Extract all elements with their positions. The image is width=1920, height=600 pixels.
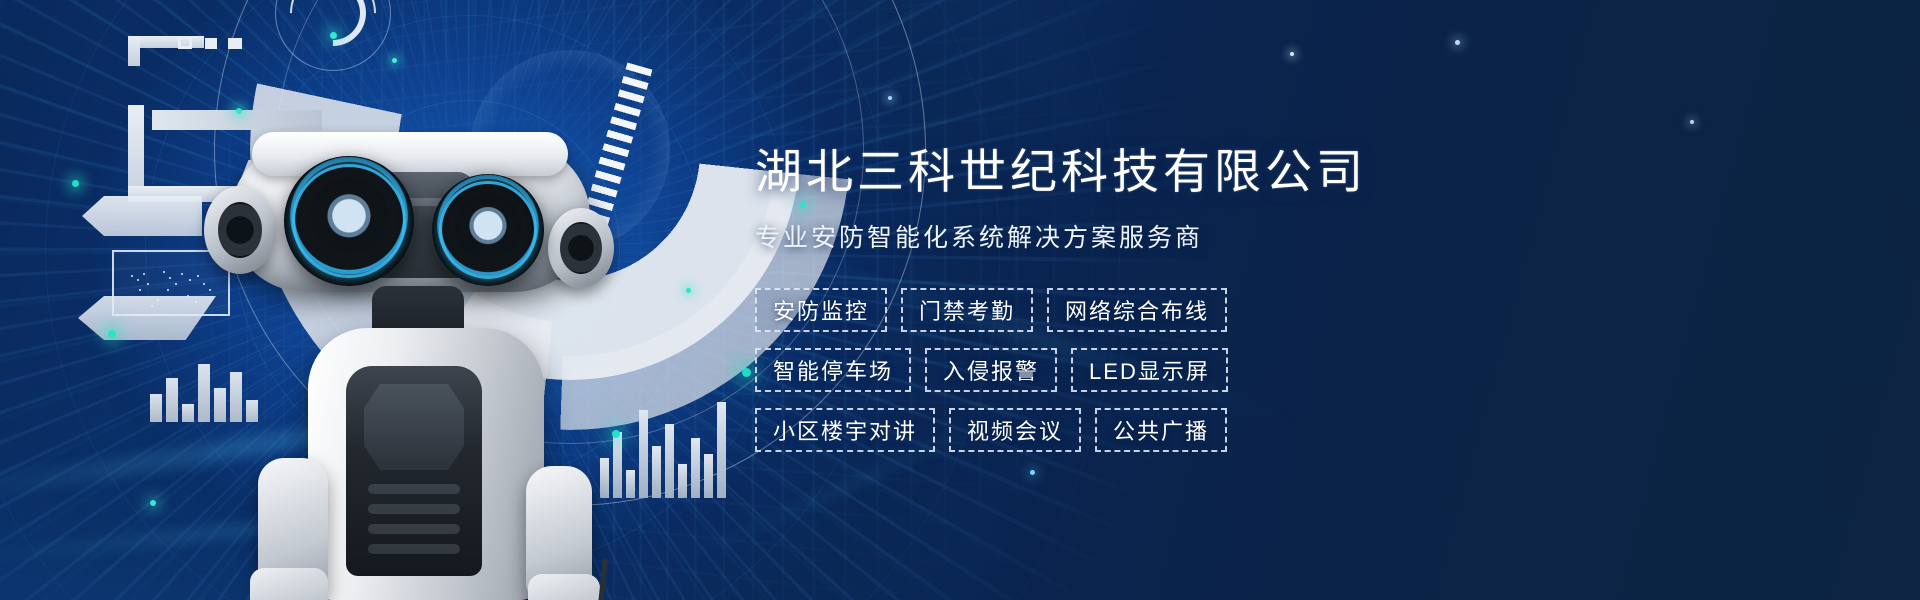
glow-particle [108, 330, 116, 338]
robot-chest-slit [368, 504, 460, 514]
robot-brow-bar [252, 132, 568, 176]
service-tag-public-broadcast[interactable]: 公共广播 [1095, 408, 1227, 452]
service-tag-row: 智能停车场 入侵报警 LED显示屏 [755, 348, 1455, 392]
robot-chest-slit [368, 484, 460, 494]
robot-hand-left [250, 568, 328, 600]
service-tag-intrusion-alarm[interactable]: 入侵报警 [925, 348, 1057, 392]
glow-particle [1030, 470, 1035, 475]
robot-illustration [196, 128, 626, 600]
glow-particle [150, 500, 156, 506]
robot-chest-emblem [364, 384, 464, 470]
glow-particle [1455, 40, 1460, 45]
service-tag-building-intercom[interactable]: 小区楼宇对讲 [755, 408, 935, 452]
service-tag-access-attendance[interactable]: 门禁考勤 [901, 288, 1033, 332]
glow-particle [72, 180, 79, 187]
hud-square-icon [205, 38, 217, 49]
robot-eye-ring-right [439, 181, 537, 279]
robot-chest-slit [368, 544, 460, 554]
robot-ear-right [548, 208, 614, 288]
service-tag-row: 小区楼宇对讲 视频会议 公共广播 [755, 408, 1455, 452]
robot-eye-ring-left [292, 164, 406, 278]
company-title: 湖北三科世纪科技有限公司 [755, 146, 1455, 198]
hero-banner: 湖北三科世纪科技有限公司 专业安防智能化系统解决方案服务商 安防监控 门禁考勤 … [0, 0, 1920, 600]
robot-ear-left [204, 186, 276, 274]
hud-arrow-icon [82, 196, 202, 236]
hud-bracket [128, 36, 204, 48]
robot-hand-right [528, 574, 600, 600]
hud-bracket [128, 105, 144, 201]
service-tag-network-cabling[interactable]: 网络综合布线 [1047, 288, 1227, 332]
service-tag-list: 安防监控 门禁考勤 网络综合布线 智能停车场 入侵报警 LED显示屏 小区楼宇对… [755, 288, 1455, 452]
banner-content: 湖北三科世纪科技有限公司 专业安防智能化系统解决方案服务商 安防监控 门禁考勤 … [755, 146, 1455, 452]
hud-bracket [128, 36, 140, 66]
glow-particle [1690, 120, 1694, 124]
service-tag-row: 安防监控 门禁考勤 网络综合布线 [755, 288, 1455, 332]
robot-chest-slit [368, 524, 460, 534]
service-tag-security-monitoring[interactable]: 安防监控 [755, 288, 887, 332]
service-tag-led-display[interactable]: LED显示屏 [1071, 348, 1228, 392]
glow-particle [1290, 52, 1294, 56]
company-subtitle: 专业安防智能化系统解决方案服务商 [755, 218, 1455, 254]
service-tag-smart-parking[interactable]: 智能停车场 [755, 348, 911, 392]
service-tag-video-conference[interactable]: 视频会议 [949, 408, 1081, 452]
hud-square-icon [178, 36, 192, 49]
robot-head [196, 128, 626, 308]
